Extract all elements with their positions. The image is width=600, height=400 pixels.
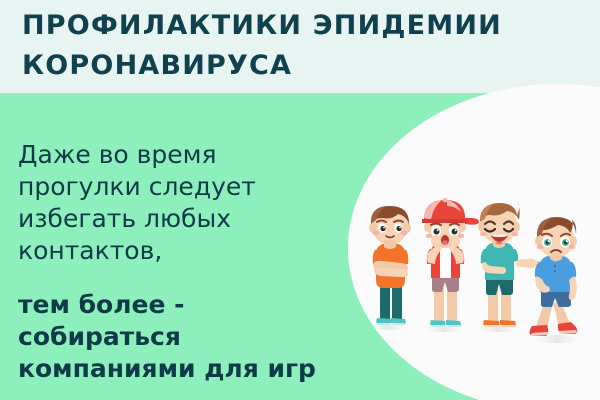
body-paragraph-primary: Даже во время прогулки следует избегать … — [18, 139, 348, 267]
boy-laughing-pointing-figure — [478, 202, 545, 332]
page-title: ПРОФИЛАКТИКИ ЭПИДЕМИИ КОРОНАВИРУСА — [22, 6, 582, 86]
body-paragraph-secondary: тем более - собираться компаниями для иг… — [18, 289, 368, 385]
boy-walking-away-sad-figure — [530, 217, 580, 343]
boy-with-red-cap-figure — [422, 198, 479, 332]
four-boys-group-illustration — [362, 198, 598, 358]
boy-arms-crossed-figure — [369, 206, 411, 330]
poster-canvas: ПРОФИЛАКТИКИ ЭПИДЕМИИ КОРОНАВИРУСА Даже … — [0, 0, 600, 400]
